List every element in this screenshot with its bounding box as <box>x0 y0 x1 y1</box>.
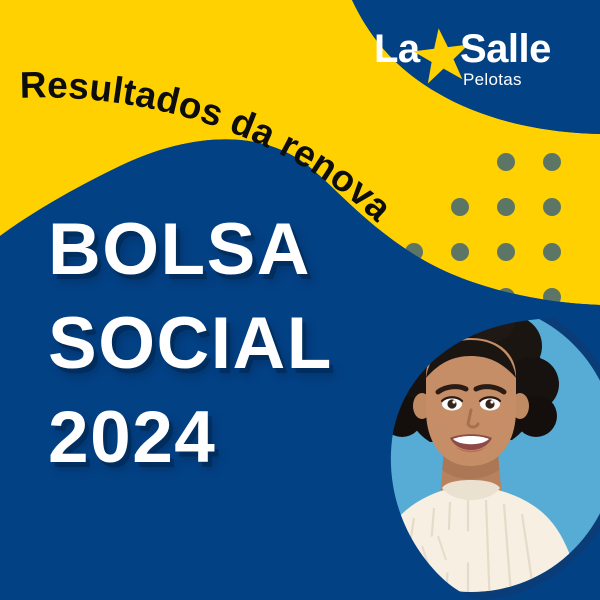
headline-line-1: BOLSA <box>48 204 333 296</box>
headline-line-3: 2024 <box>48 392 333 484</box>
arc-headline-textpath: Resultados da renovação <box>0 0 400 229</box>
main-headline: BOLSA SOCIAL 2024 <box>48 204 333 484</box>
headline-line-2: SOCIAL <box>48 298 333 390</box>
poster: Resultados da renovação BOLSA SOCIAL 202… <box>0 0 600 600</box>
logo-word-salle: Salle <box>460 26 551 72</box>
arc-headline-text: Resultados da renovação <box>0 0 400 229</box>
logo-subtitle: Pelotas <box>463 70 522 90</box>
la-salle-logo: La Salle Pelotas <box>374 26 574 100</box>
